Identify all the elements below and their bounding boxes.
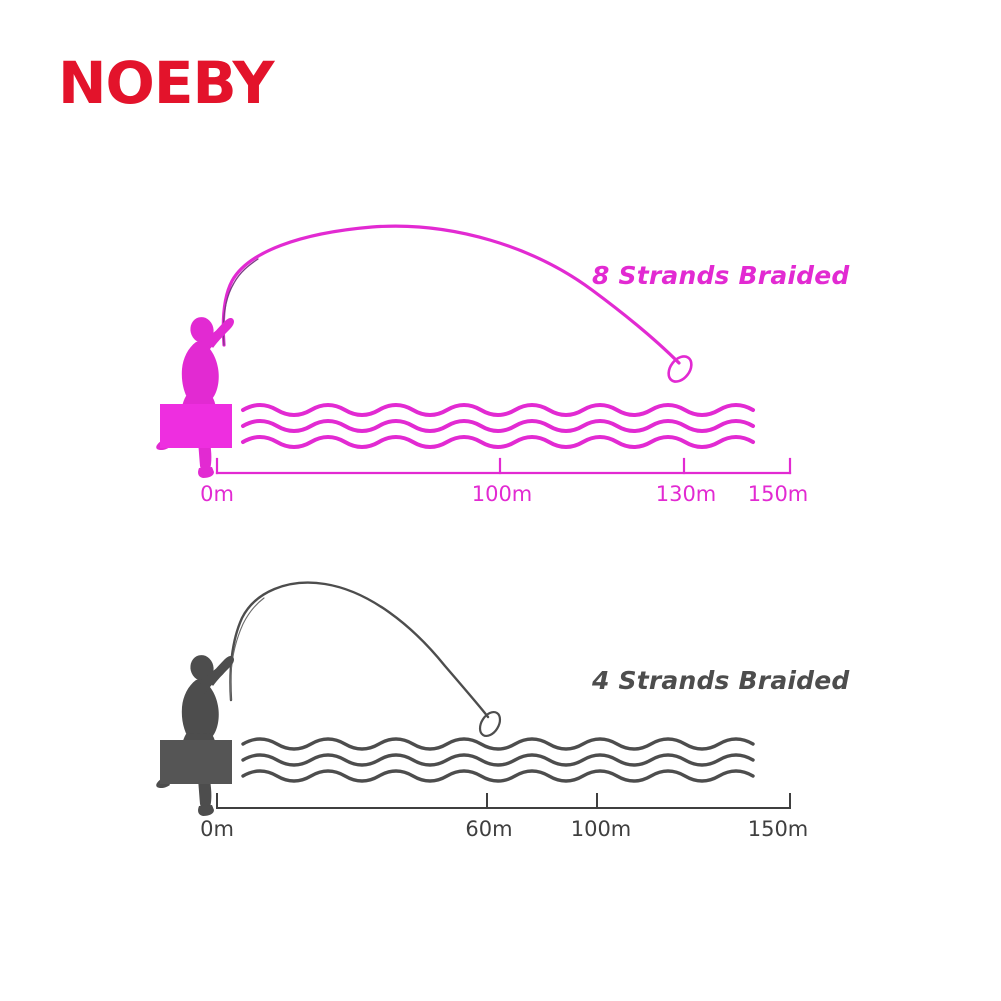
- lure-loop-icon: [664, 352, 696, 386]
- water-waves-icon: [243, 739, 753, 781]
- dock-platform-icon: [160, 404, 232, 448]
- dock-platform-icon: [160, 740, 232, 784]
- cast-line-trajectory-icon: [223, 226, 679, 363]
- axis-label-top-130m: 130m: [656, 482, 717, 506]
- fisherman-casting-icon: [156, 653, 234, 816]
- axis-label-bottom-150m: 150m: [748, 817, 809, 841]
- panel-label-8-strands: 8 Strands Braided: [592, 261, 850, 290]
- distance-axis-top: [217, 459, 790, 473]
- panel-bottom: [156, 583, 790, 816]
- panel-label-4-strands: 4 Strands Braided: [592, 666, 850, 695]
- cast-line-trajectory-icon: [230, 583, 488, 717]
- cast-line-rod-tip-icon: [223, 259, 258, 345]
- axis-label-bottom-100m: 100m: [571, 817, 632, 841]
- distance-axis-bottom: [217, 794, 790, 808]
- axis-label-bottom-0m: 0m: [200, 817, 234, 841]
- cast-line-rod-tip-icon: [231, 598, 265, 700]
- lure-loop-icon: [476, 708, 504, 739]
- axis-label-top-100m: 100m: [472, 482, 533, 506]
- axis-label-top-150m: 150m: [748, 482, 809, 506]
- water-waves-icon: [243, 405, 753, 447]
- axis-label-bottom-60m: 60m: [465, 817, 512, 841]
- axis-label-top-0m: 0m: [200, 482, 234, 506]
- infographic-canvas: NOEBY: [0, 0, 1001, 1001]
